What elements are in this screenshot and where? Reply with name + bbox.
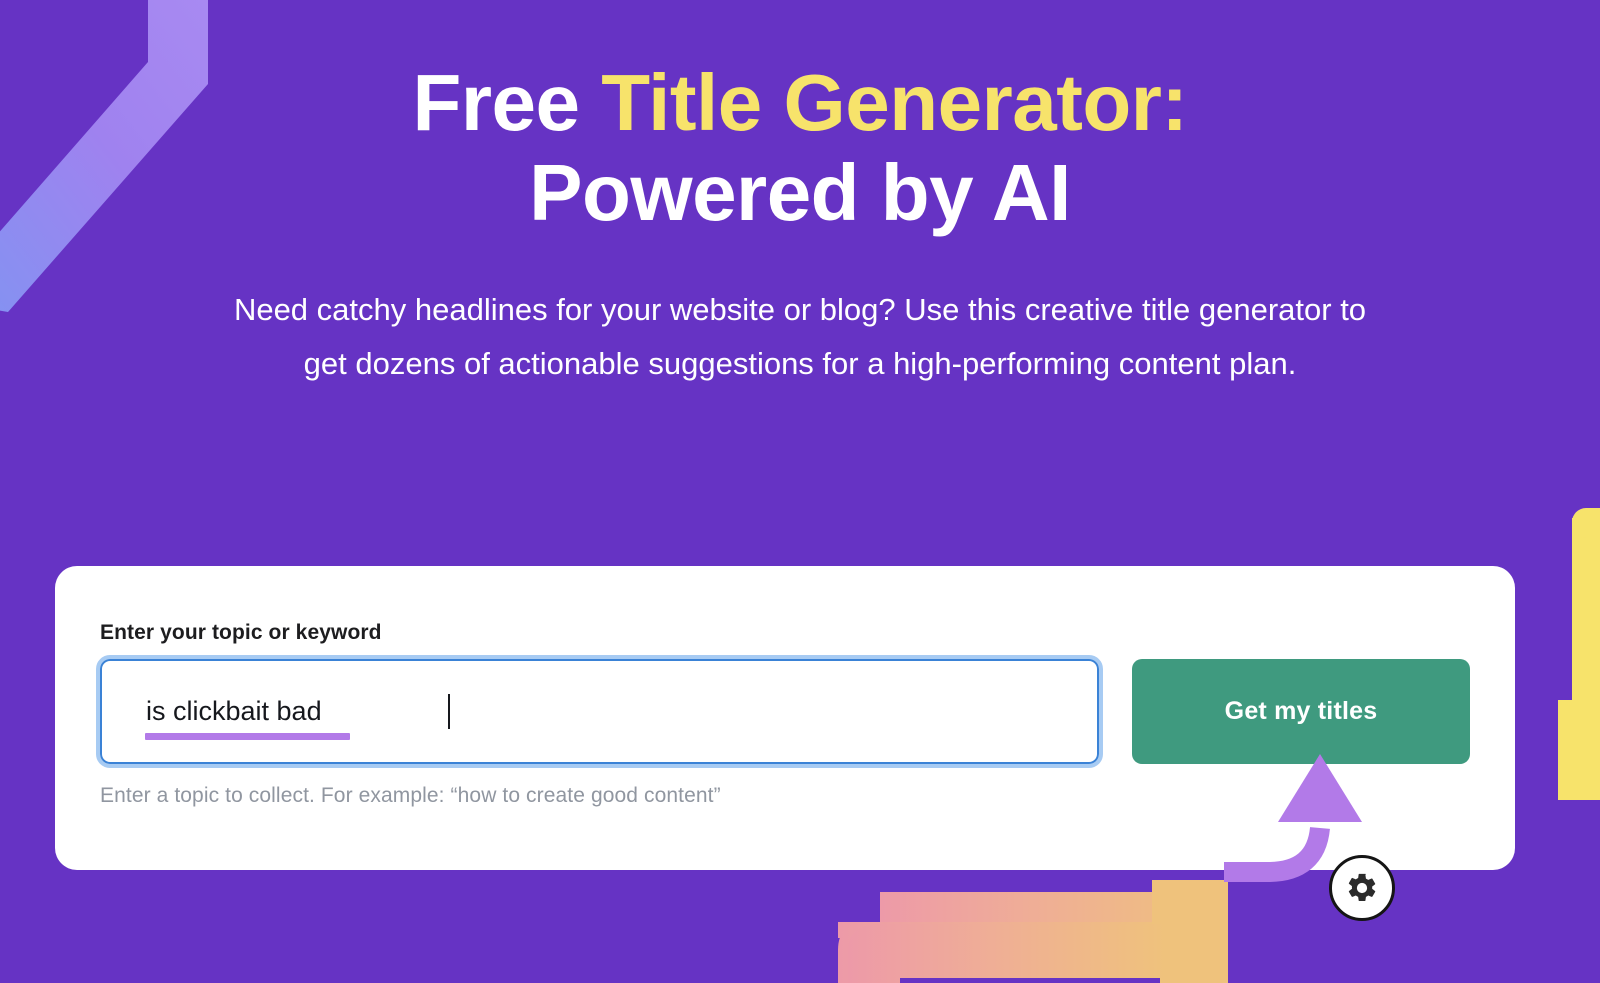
page-title: Free Title Generator: Powered by AI xyxy=(0,0,1600,237)
title-line-two: Powered by AI xyxy=(529,148,1071,237)
gear-icon xyxy=(1345,871,1379,905)
hero-section: Free Title Generator: Powered by AI Need… xyxy=(0,0,1600,390)
topic-helper-text: Enter a topic to collect. For example: “… xyxy=(100,784,1470,808)
text-caret xyxy=(448,694,450,729)
right-yellow-ribbon-icon xyxy=(1558,508,1600,800)
topic-field-label: Enter your topic or keyword xyxy=(100,621,1470,645)
page-subtitle: Need catchy headlines for your website o… xyxy=(220,283,1380,390)
get-my-titles-button[interactable]: Get my titles xyxy=(1132,659,1470,764)
form-row: Get my titles xyxy=(100,659,1470,764)
settings-fab-button[interactable] xyxy=(1329,855,1395,921)
bottom-warm-ribbon-icon xyxy=(838,880,1228,983)
topic-input[interactable] xyxy=(100,659,1099,764)
spellcheck-underline xyxy=(145,733,350,740)
title-part-free: Free xyxy=(413,58,602,147)
title-part-accent: Title Generator: xyxy=(601,58,1187,147)
generator-form-card: Enter your topic or keyword Get my title… xyxy=(55,566,1515,870)
topic-input-wrapper xyxy=(100,659,1099,764)
